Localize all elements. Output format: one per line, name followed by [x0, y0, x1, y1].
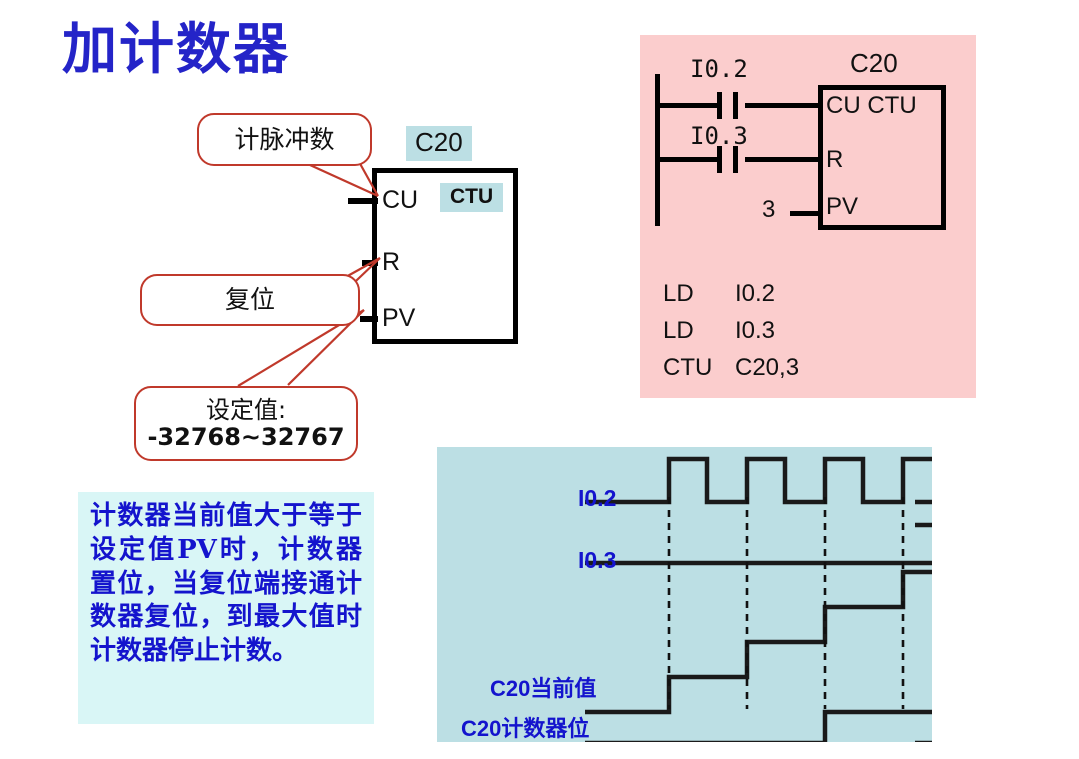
- callout-count-pulses: 计脉冲数: [197, 113, 372, 166]
- pv-input-stub: [360, 316, 378, 322]
- callout-pv-line2: -32768~32767: [147, 423, 344, 451]
- r-input-stub: [362, 260, 378, 266]
- callout-pv-line1: 设定值:: [206, 396, 286, 424]
- timing-label-i02: I0.2: [578, 485, 616, 512]
- statement-list: LD I0.2 LD I0.3 CTU C20,3: [663, 275, 799, 387]
- pv-input-wire: [790, 211, 820, 216]
- counter-tag-c20: C20: [406, 126, 472, 161]
- stl-arg: I0.2: [735, 275, 775, 312]
- ladder-pv-constant: 3: [762, 196, 775, 224]
- stl-arg: C20,3: [735, 349, 799, 386]
- stl-row: LD I0.3: [663, 312, 799, 349]
- pin-label-r: R: [382, 248, 400, 277]
- ladder-left-power-rail: [655, 74, 660, 226]
- description-text-box: 计数器当前值大于等于设定值PV时，计数器置位，当复位端接通计数器复位，到最大值时…: [78, 492, 374, 724]
- contact-i02-bar-right: [733, 92, 738, 119]
- ladder-contact-label-i03: I0.3: [690, 122, 748, 150]
- stl-arg: I0.3: [735, 312, 775, 349]
- callout-reset: 复位: [140, 274, 360, 326]
- pin-label-cu: CU: [382, 186, 418, 215]
- contact-i03-bar-right: [733, 146, 738, 173]
- ladder-box-label-r: R: [826, 146, 843, 174]
- stl-op: LD: [663, 312, 735, 349]
- stl-op: CTU: [663, 349, 735, 386]
- ladder-contact-label-i02: I0.2: [690, 55, 748, 83]
- rung1-wire-left: [655, 103, 717, 108]
- rung2-wire-right: [745, 157, 820, 162]
- cu-input-stub: [348, 198, 378, 204]
- pin-label-pv: PV: [382, 304, 415, 333]
- timing-label-i03: I0.3: [578, 547, 616, 574]
- timing-label-current-value: C20当前值: [490, 671, 596, 703]
- counter-tag-ctu: CTU: [440, 183, 503, 212]
- timing-label-counter-bit: C20计数器位: [461, 711, 589, 743]
- ladder-box-tag-c20: C20: [850, 48, 898, 79]
- ladder-box-label-cu-ctu: CU CTU: [826, 92, 917, 120]
- rung1-wire-right: [745, 103, 820, 108]
- ladder-box-label-pv: PV: [826, 193, 858, 221]
- page-title: 加计数器: [62, 4, 290, 84]
- stl-row: LD I0.2: [663, 275, 799, 312]
- contact-i02-bar-left: [717, 92, 722, 119]
- callout-r-text: 复位: [225, 286, 275, 314]
- contact-i03-bar-left: [717, 146, 722, 173]
- stl-op: LD: [663, 275, 735, 312]
- stl-row: CTU C20,3: [663, 349, 799, 386]
- callout-cu-text: 计脉冲数: [234, 126, 334, 154]
- callout-preset-value: 设定值: -32768~32767: [134, 386, 358, 461]
- rung2-wire-left: [655, 157, 717, 162]
